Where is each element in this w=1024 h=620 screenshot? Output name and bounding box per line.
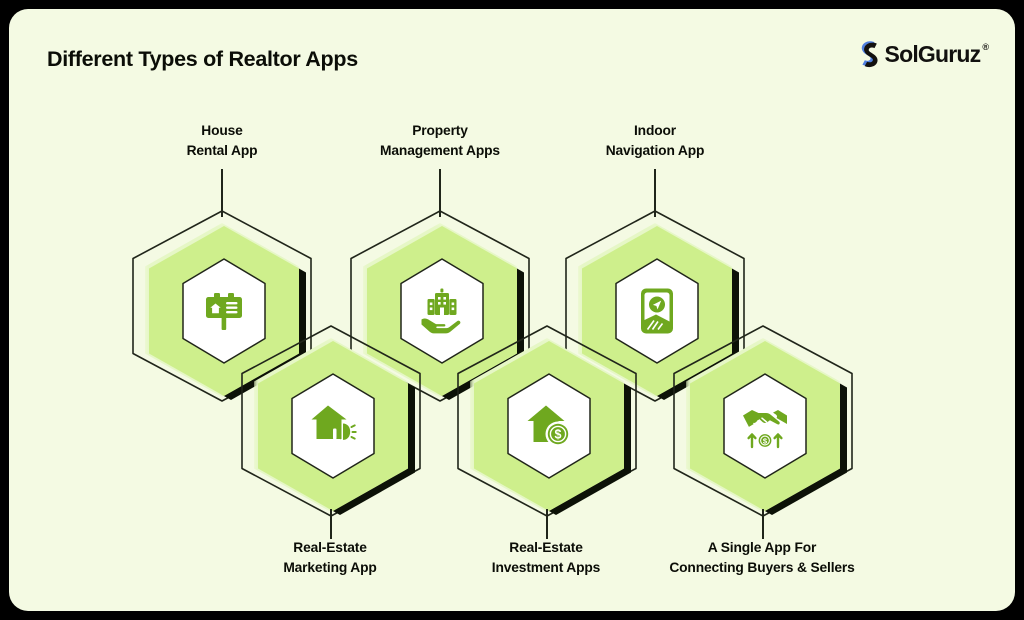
label-indoor-navigation-app: Indoor Navigation App (575, 121, 735, 162)
poster-frame: Different Types of Realtor Apps SolGuruz… (0, 0, 1024, 620)
logo-wordmark: SolGuruz (885, 43, 981, 66)
label-single-app-connecting-buyers-sellers: A Single App For Connecting Buyers & Sel… (642, 538, 882, 579)
hex-inner-plate: $ (720, 371, 810, 481)
house-dollar-icon: $ (526, 404, 572, 448)
label-property-management-apps: Property Management Apps (357, 121, 523, 162)
connector-real-estate-investment-apps (546, 509, 548, 539)
hex-inner-plate: $ (504, 371, 594, 481)
node-single-app-connecting-buyers-sellers[interactable]: $ (668, 320, 858, 534)
poster-panel: Different Types of Realtor Apps SolGuruz… (9, 9, 1015, 611)
svg-text:$: $ (555, 428, 562, 442)
icon-house-dollar: $ (504, 371, 594, 481)
connector-real-estate-marketing-app (330, 509, 332, 539)
icon-handshake-growth: $ (720, 371, 810, 481)
icon-house-megaphone (288, 371, 378, 481)
handshake-growth-icon: $ (741, 403, 789, 449)
hex-inner-plate (288, 371, 378, 481)
logo-registered-mark: ® (982, 42, 989, 52)
label-real-estate-marketing-app: Real-Estate Marketing App (250, 538, 410, 579)
connector-single-app-connecting-buyers-sellers (762, 509, 764, 539)
brand-logo: SolGuruz ® (857, 39, 989, 69)
page-title: Different Types of Realtor Apps (47, 47, 358, 72)
node-real-estate-marketing-app[interactable] (236, 320, 426, 534)
house-megaphone-icon (310, 404, 356, 448)
label-house-rental-app: House Rental App (142, 121, 302, 162)
node-real-estate-investment-apps[interactable]: $ (452, 320, 642, 534)
solguruz-s-mark-icon (857, 39, 883, 69)
label-real-estate-investment-apps: Real-Estate Investment Apps (466, 538, 626, 579)
